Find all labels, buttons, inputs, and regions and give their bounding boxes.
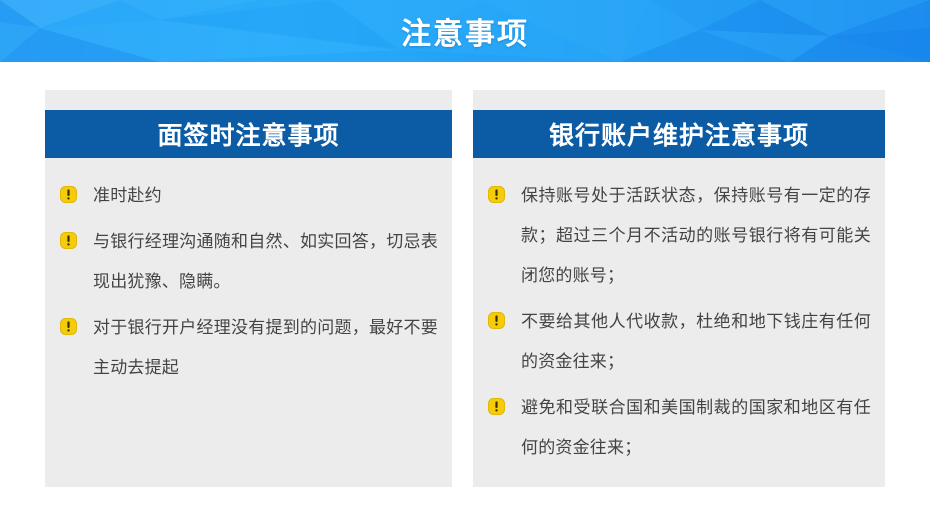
warning-icon — [488, 186, 505, 203]
card-right: 银行账户维护注意事项 保持账号处于活跃状态，保持账号有一定的存款；超过三个月不活… — [473, 90, 885, 487]
card-left-header-text: 面签时注意事项 — [157, 116, 339, 152]
list-item-text: 避免和受联合国和美国制裁的国家和地区有任何的资金往来； — [521, 388, 871, 468]
warning-icon — [60, 186, 77, 203]
list-item-text: 准时赴约 — [93, 176, 438, 216]
list-item: 与银行经理沟通随和自然、如实回答，切忌表现出犹豫、隐瞒。 — [60, 222, 438, 302]
list-item-text: 与银行经理沟通随和自然、如实回答，切忌表现出犹豫、隐瞒。 — [93, 222, 438, 302]
warning-icon — [60, 318, 77, 335]
list-item: 避免和受联合国和美国制裁的国家和地区有任何的资金往来； — [488, 388, 871, 468]
warning-icon — [60, 232, 77, 249]
card-right-header-text: 银行账户维护注意事项 — [549, 116, 809, 152]
card-left: 面签时注意事项 准时赴约 与银行经理沟通随和自然、如实回答，切忌表现出犹豫、隐瞒… — [45, 90, 452, 487]
page-title: 注意事项 — [0, 0, 930, 62]
list-item: 准时赴约 — [60, 176, 438, 216]
list-item-text: 保持账号处于活跃状态，保持账号有一定的存款；超过三个月不活动的账号银行将有可能关… — [521, 176, 871, 296]
warning-icon — [488, 312, 505, 329]
card-left-header: 面签时注意事项 — [45, 110, 452, 158]
card-left-body: 准时赴约 与银行经理沟通随和自然、如实回答，切忌表现出犹豫、隐瞒。 对于银行开户… — [45, 158, 452, 487]
page-banner: 注意事项 — [0, 0, 930, 62]
list-item: 对于银行开户经理没有提到的问题，最好不要主动去提起 — [60, 308, 438, 388]
warning-icon — [488, 398, 505, 415]
list-item: 不要给其他人代收款，杜绝和地下钱庄有任何的资金往来； — [488, 302, 871, 382]
list-item: 保持账号处于活跃状态，保持账号有一定的存款；超过三个月不活动的账号银行将有可能关… — [488, 176, 871, 296]
card-right-body: 保持账号处于活跃状态，保持账号有一定的存款；超过三个月不活动的账号银行将有可能关… — [473, 158, 885, 487]
card-right-header: 银行账户维护注意事项 — [473, 110, 885, 158]
list-item-text: 对于银行开户经理没有提到的问题，最好不要主动去提起 — [93, 308, 438, 388]
cards-container: 面签时注意事项 准时赴约 与银行经理沟通随和自然、如实回答，切忌表现出犹豫、隐瞒… — [0, 62, 930, 527]
list-item-text: 不要给其他人代收款，杜绝和地下钱庄有任何的资金往来； — [521, 302, 871, 382]
